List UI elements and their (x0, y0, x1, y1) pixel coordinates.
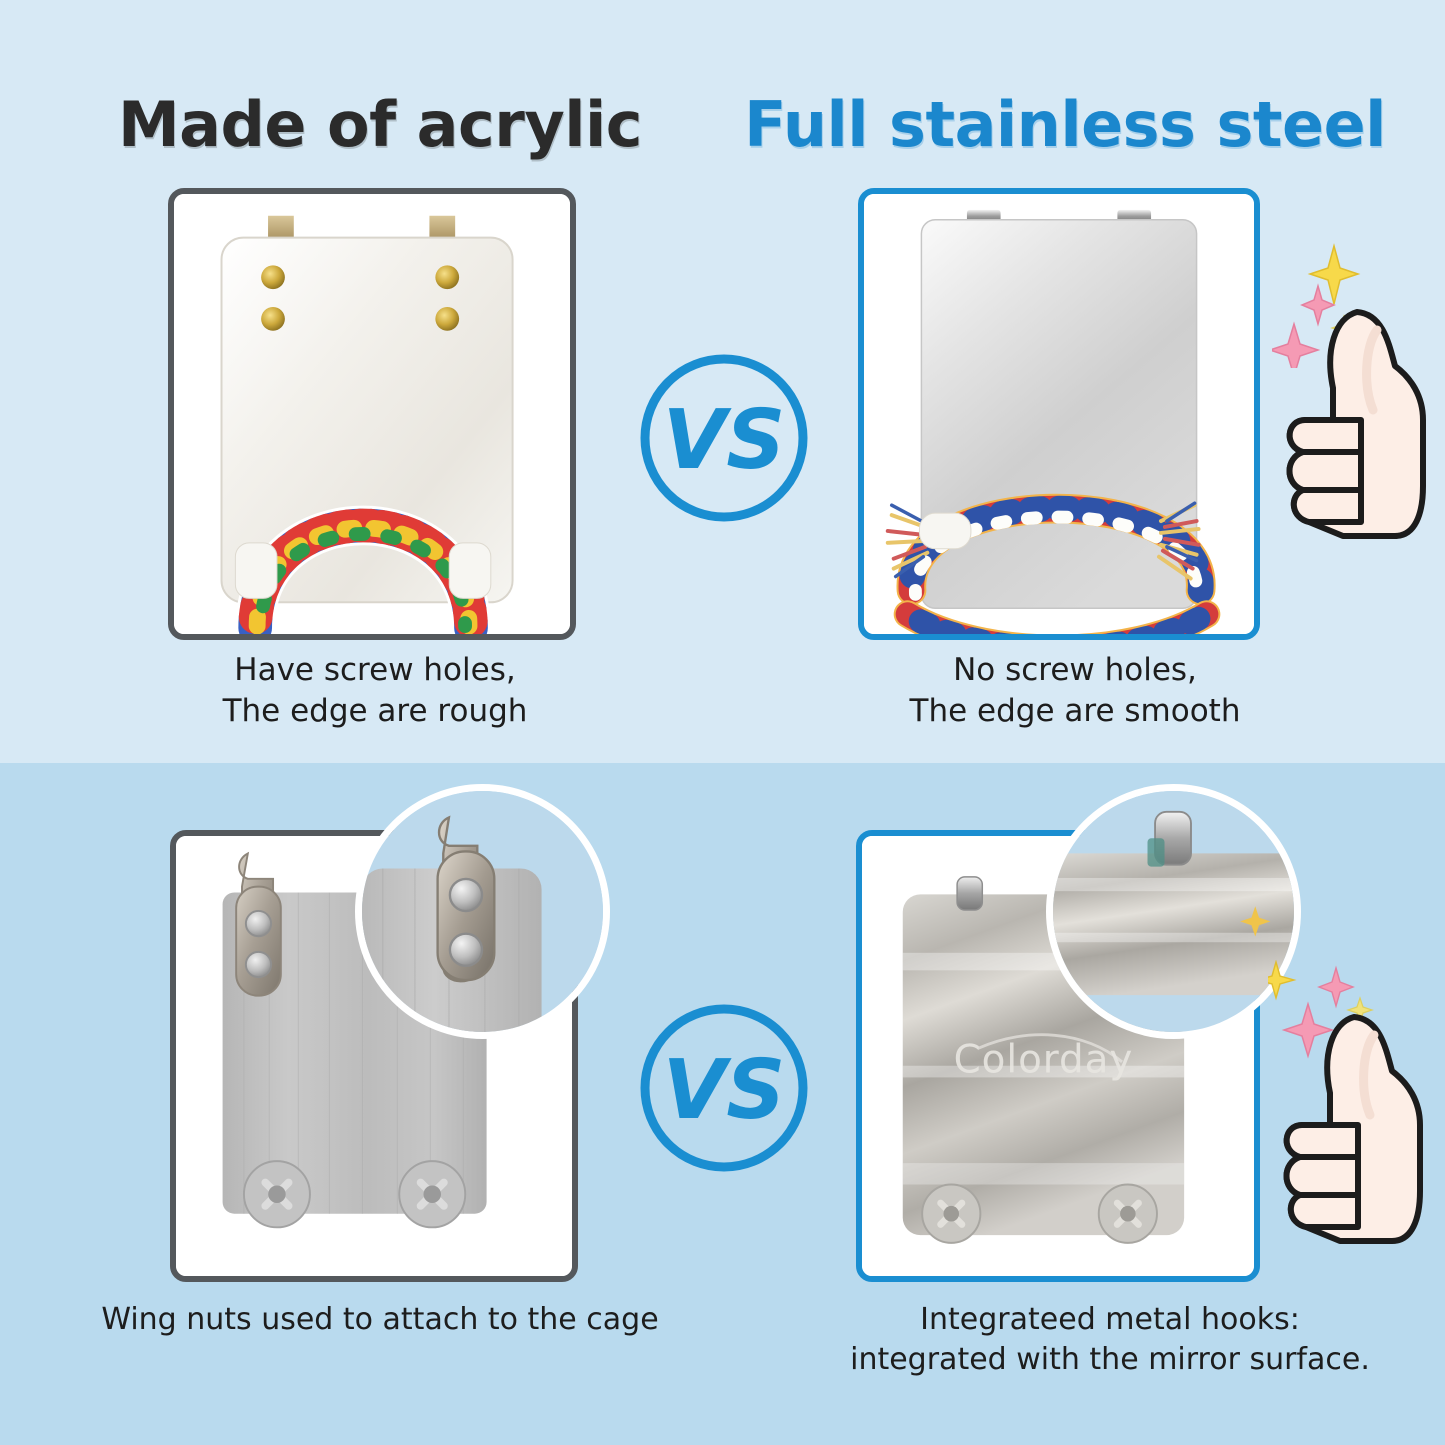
caption-wingnuts: Wing nuts used to attach to the cage (60, 1300, 700, 1340)
stainless-mirror-photo (864, 194, 1254, 634)
vs-badge-bottom: VS (636, 1000, 812, 1176)
caption-integrated-hooks: Integrateed metal hooks: integrated with… (810, 1300, 1410, 1380)
product-card-acrylic (168, 188, 576, 640)
heading-acrylic: Made of acrylic (80, 88, 680, 161)
caption-acrylic: Have screw holes, The edge are rough (120, 650, 630, 732)
vs-label-top: VS (663, 393, 786, 488)
callout-wingnut-hook (355, 784, 610, 1039)
vs-badge-top: VS (636, 350, 812, 526)
acrylic-mirror-photo (174, 194, 570, 634)
thumbs-up-icon-top (1265, 300, 1440, 550)
thumbs-up-icon-bottom (1262, 1005, 1437, 1255)
vs-label-bottom: VS (663, 1043, 786, 1138)
infographic-stage: Made of acrylic Full stainless steel (0, 0, 1445, 1445)
caption-stainless: No screw holes, The edge are smooth (820, 650, 1330, 732)
brand-etch-colorday: Colorday (954, 1037, 1134, 1082)
product-card-stainless (858, 188, 1260, 640)
callout-integrated-hook (1046, 784, 1301, 1039)
heading-stainless-steel: Full stainless steel (740, 88, 1390, 161)
